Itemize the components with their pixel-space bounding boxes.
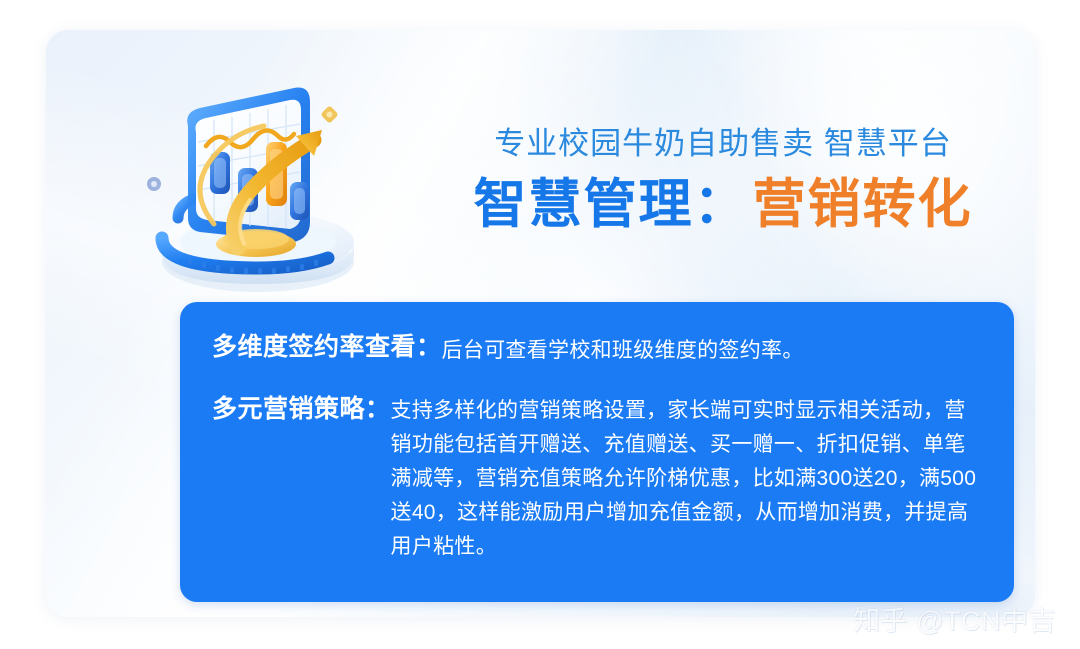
feature-label: 多维度签约率查看： — [212, 328, 442, 365]
feature-item-marketing-strategy: 多元营销策略： 支持多样化的营销策略设置，家长端可实时显示相关活动，营销功能包括… — [212, 390, 982, 564]
feature-panel: 多维度签约率查看： 后台可查看学校和班级维度的签约率。 多元营销策略： 支持多样… — [180, 302, 1014, 602]
feature-label: 多元营销策略： — [212, 390, 391, 427]
chart-growth-illustration — [118, 72, 398, 302]
page-title-main: 智慧管理 — [474, 175, 694, 234]
header-block: 专业校园牛奶自助售卖 智慧平台 智慧管理：营销转化 — [418, 126, 1028, 235]
poster-card: 专业校园牛奶自助售卖 智慧平台 智慧管理：营销转化 多维度签约率查看： 后台可查… — [46, 30, 1035, 617]
zhihu-logo-icon: 知乎 — [853, 608, 907, 635]
page-title-colon: ： — [694, 175, 753, 234]
poster-canvas: 专业校园牛奶自助售卖 智慧平台 智慧管理：营销转化 多维度签约率查看： 后台可查… — [0, 0, 1080, 649]
page-title: 智慧管理：营销转化 — [418, 175, 1028, 235]
feature-description: 支持多样化的营销策略设置，家长端可实时显示相关活动，营销功能包括首开赠送、充值赠… — [391, 390, 982, 564]
watermark: 知乎 @TCN中吉 — [853, 608, 1056, 635]
feature-description: 后台可查看学校和班级维度的签约率。 — [442, 328, 982, 368]
page-subtitle: 专业校园牛奶自助售卖 智慧平台 — [418, 126, 1028, 163]
feature-item-signing-rate: 多维度签约率查看： 后台可查看学校和班级维度的签约率。 — [212, 328, 982, 368]
page-title-accent: 营销转化 — [753, 175, 973, 234]
watermark-handle: @TCN中吉 — [916, 608, 1056, 635]
